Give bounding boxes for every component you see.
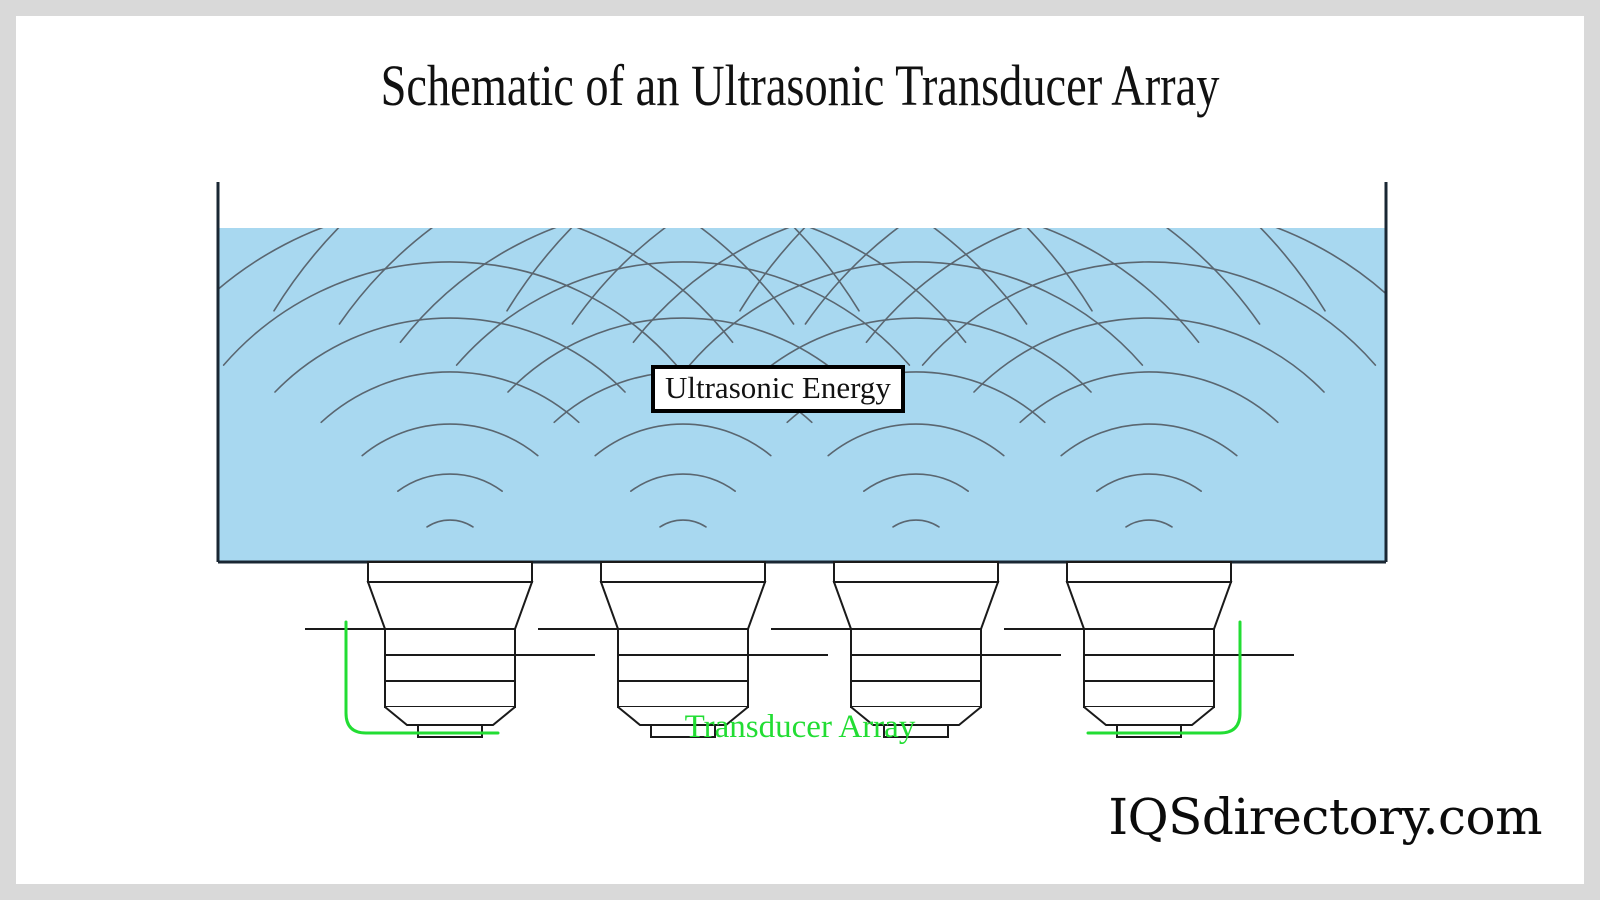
ultrasonic-energy-label: Ultrasonic Energy bbox=[665, 372, 891, 403]
ultrasonic-energy-label-box: Ultrasonic Energy bbox=[651, 365, 905, 413]
watermark: IQSdirectory.com bbox=[1108, 788, 1542, 846]
figure-canvas: Schematic of an Ultrasonic Transducer Ar… bbox=[16, 16, 1584, 884]
diagram-stage: Schematic of an Ultrasonic Transducer Ar… bbox=[16, 16, 1584, 884]
transducer-array-label: Transducer Array bbox=[16, 709, 1584, 746]
schematic-drawing bbox=[16, 16, 1584, 884]
